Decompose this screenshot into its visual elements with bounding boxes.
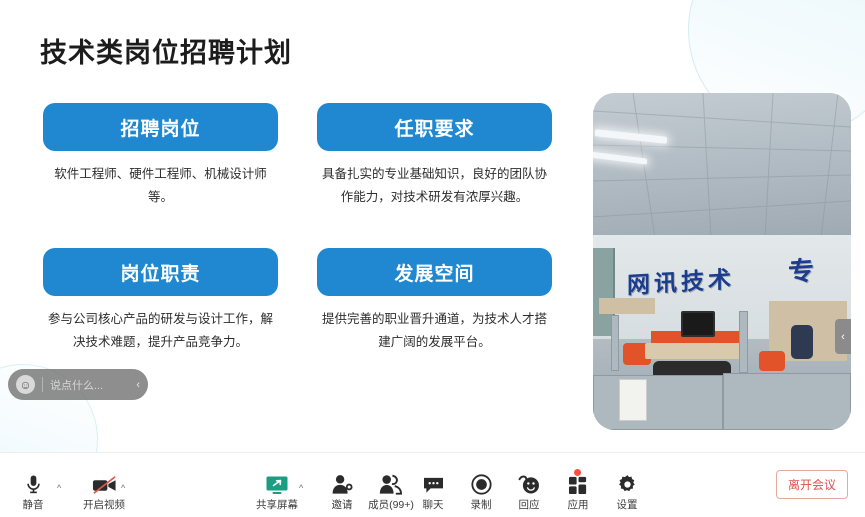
start-video-label: 开启视频 [83,497,125,512]
video-options-caret-icon[interactable]: ^ [121,483,125,493]
chat-label: 聊天 [423,497,444,512]
photo-cabinet [599,298,655,314]
photo-partition-orange [759,351,785,371]
apps-label: 应用 [568,497,589,512]
chat-input-placeholder[interactable]: 说点什么... [50,377,129,393]
slide-card: 岗位职责 参与公司核心产品的研发与设计工作，解决技术难题，提升产品竞争力。 [43,248,278,354]
gear-icon [617,471,638,495]
slide-card: 任职要求 具备扎实的专业基础知识，良好的团队协作能力，对技术研发有浓厚兴趣。 [317,103,552,209]
screen-share-icon [265,471,289,495]
slide-card: 招聘岗位 软件工程师、硬件工程师、机械设计师等。 [43,103,278,209]
side-panel-toggle[interactable]: ‹ [835,319,851,354]
shared-screen-content: 技术类岗位招聘计划 招聘岗位 软件工程师、硬件工程师、机械设计师等。 任职要求 … [0,0,865,452]
mute-options-caret-icon[interactable]: ^ [57,483,61,493]
wall-signage-text-2: 专 [788,250,817,289]
photo-partition [739,311,748,373]
settings-label: 设置 [617,497,638,512]
photo-monitor [681,311,715,337]
record-circle-icon [471,471,492,495]
photo-desk [645,343,747,359]
slide-title: 技术类岗位招聘计划 [40,31,292,70]
meeting-control-bar: 静音 ^ 开启视频 ^ 共享屏幕 ^ [0,452,865,517]
camera-off-icon [92,471,117,495]
leave-meeting-button[interactable]: 离开会议 [776,470,848,499]
wall-signage-text: 网讯技术 [627,260,735,301]
share-options-caret-icon[interactable]: ^ [299,483,303,493]
start-video-button[interactable]: 开启视频 [68,471,140,512]
reactions-label: 回应 [519,497,540,512]
reaction-smiley-icon [518,471,541,495]
microphone-icon [24,471,43,495]
card-heading-pill: 发展空间 [317,248,552,296]
card-description: 具备扎实的专业基础知识，良好的团队协作能力，对技术研发有浓厚兴趣。 [317,163,552,209]
share-screen-label: 共享屏幕 [256,497,298,512]
apps-badge-dot [574,469,581,476]
card-heading-pill: 任职要求 [317,103,552,151]
floating-chat-input[interactable]: ☺ 说点什么... ‹ [8,369,148,400]
settings-button[interactable]: 设置 [598,471,656,512]
office-photo: 网讯技术 专 ‹ [593,93,851,430]
slide-card-grid: 招聘岗位 软件工程师、硬件工程师、机械设计师等。 任职要求 具备扎实的专业基础知… [43,103,568,355]
emoji-icon[interactable]: ☺ [16,375,35,394]
divider [42,377,43,392]
share-screen-button[interactable]: 共享屏幕 [248,471,306,512]
card-description: 参与公司核心产品的研发与设计工作，解决技术难题，提升产品竞争力。 [43,308,278,354]
card-description: 软件工程师、硬件工程师、机械设计师等。 [43,163,278,209]
mute-label: 静音 [23,497,44,512]
card-description: 提供完善的职业晋升通道，为技术人才搭建广阔的发展平台。 [317,308,552,354]
chat-bubble-icon [422,471,445,495]
slide-card: 发展空间 提供完善的职业晋升通道，为技术人才搭建广阔的发展平台。 [317,248,552,354]
card-heading-pill: 招聘岗位 [43,103,278,151]
apps-grid-icon [568,471,589,495]
photo-poster [619,379,647,421]
photo-chair [791,325,813,359]
ceiling-grid-lines [593,93,851,238]
chevron-left-icon[interactable]: ‹ [136,379,140,391]
record-label: 录制 [471,497,492,512]
chevron-left-icon: ‹ [841,331,845,343]
invite-label: 邀请 [332,497,353,512]
card-heading-pill: 岗位职责 [43,248,278,296]
photo-partition [611,315,619,371]
invite-person-icon [331,471,354,495]
photo-partition [593,375,723,430]
participants-icon [379,471,403,495]
photo-partition [723,373,851,430]
mute-button[interactable]: 静音 [4,471,62,512]
